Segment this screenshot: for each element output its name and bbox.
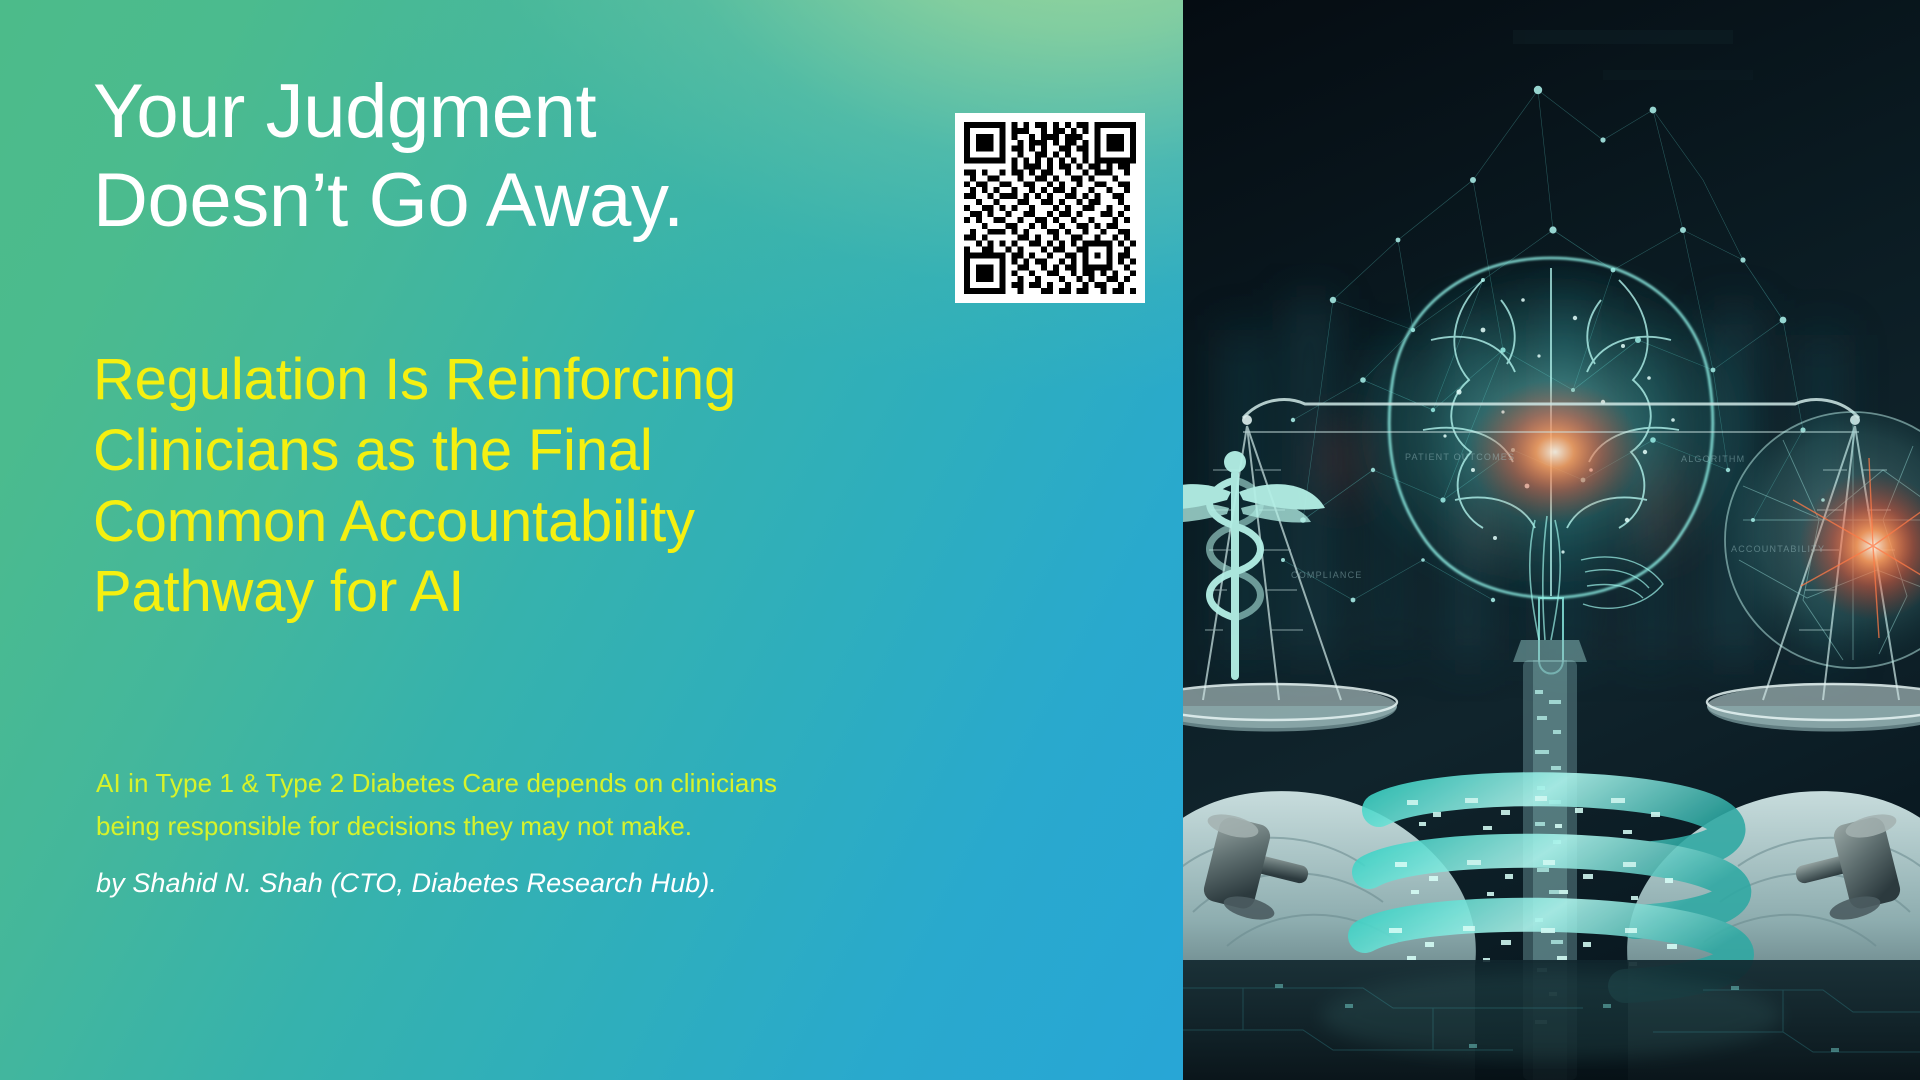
qr-code-image	[964, 122, 1136, 294]
deck-text: AI in Type 1 & Type 2 Diabetes Care depe…	[96, 762, 777, 848]
left-gradient-panel: Your Judgment Doesn’t Go Away.	[0, 0, 1183, 1080]
artwork-canvas: PATIENT OUTCOMES ALGORITHM ACCOUNTABILIT…	[1183, 0, 1920, 1080]
qr-code[interactable]	[955, 113, 1145, 303]
slide-root: Your Judgment Doesn’t Go Away.	[0, 0, 1920, 1080]
svg-text:ACCOUNTABILITY: ACCOUNTABILITY	[1731, 544, 1825, 554]
page-title: Your Judgment Doesn’t Go Away.	[93, 68, 684, 246]
ai-justice-illustration: PATIENT OUTCOMES ALGORITHM ACCOUNTABILIT…	[1183, 0, 1920, 1080]
svg-text:PATIENT OUTCOMES: PATIENT OUTCOMES	[1405, 452, 1515, 462]
svg-text:ALGORITHM: ALGORITHM	[1681, 454, 1745, 464]
circuit-floor	[1183, 960, 1920, 1080]
byline: by Shahid N. Shah (CTO, Diabetes Researc…	[96, 868, 717, 899]
svg-text:COMPLIANCE: COMPLIANCE	[1291, 570, 1363, 580]
subtitle: Regulation Is Reinforcing Clinicians as …	[93, 345, 736, 628]
